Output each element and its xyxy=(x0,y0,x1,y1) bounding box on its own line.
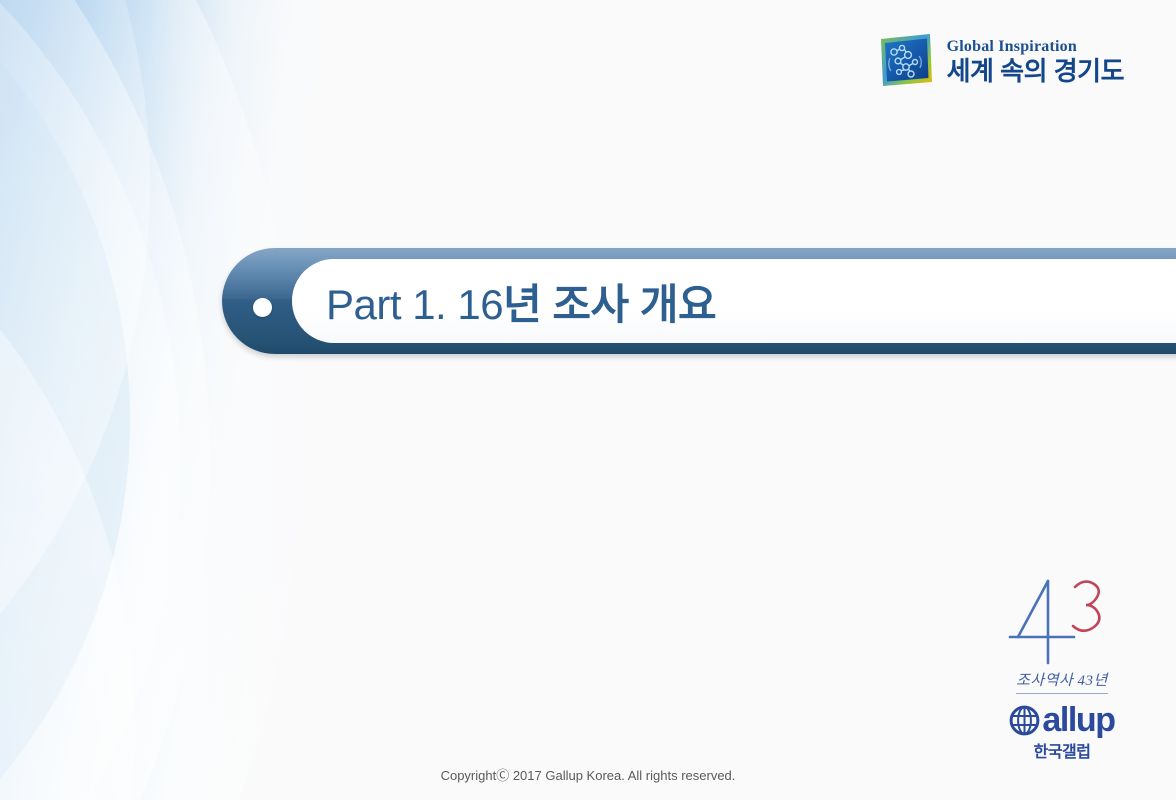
anniversary-script-line: 조사역사 43년 xyxy=(1016,669,1108,694)
gallup-wordmark-text: allup xyxy=(1042,703,1114,737)
background-streak-2 xyxy=(0,110,135,800)
page-title-suffix: 년 조사 개요 xyxy=(503,281,716,328)
gyeonggi-tagline-en: Global Inspiration xyxy=(947,39,1124,55)
anniversary-43-mark xyxy=(1002,575,1122,667)
gyeonggi-emblem-icon xyxy=(875,30,937,92)
title-bar-plate: Part 1. 16년 조사 개요 xyxy=(292,259,1176,343)
gallup-name-kr: 한국갤럽 xyxy=(994,738,1130,762)
background-arc-1 xyxy=(0,0,300,800)
background-arc-2 xyxy=(0,0,210,800)
section-title-bar: Part 1. 16년 조사 개요 xyxy=(222,248,1176,354)
gyeonggi-logo-text: Global Inspiration 세계 속의 경기도 xyxy=(947,39,1124,84)
background-arc-4 xyxy=(0,0,130,800)
gyeonggi-province-logo: Global Inspiration 세계 속의 경기도 xyxy=(875,30,1124,92)
background-streak-1 xyxy=(0,0,150,800)
page-title-prefix: Part 1. 16 xyxy=(326,281,503,328)
presentation-slide: Global Inspiration 세계 속의 경기도 Part 1. 16년… xyxy=(0,0,1176,800)
background-arc-dark xyxy=(0,0,130,620)
footer-copyright: CopyrightⒸ 2017 Gallup Korea. All rights… xyxy=(0,765,1176,784)
gallup-wordmark: allup xyxy=(994,703,1130,737)
page-title: Part 1. 16년 조사 개요 xyxy=(326,271,716,332)
gyeonggi-name-kr: 세계 속의 경기도 xyxy=(947,58,1124,84)
gallup-korea-logo: 조사역사 43년 allup 한국갤럽 xyxy=(994,575,1130,762)
gallup-globe-icon xyxy=(1009,705,1040,736)
background-arc-3 xyxy=(0,0,180,800)
title-bullet-dot-icon xyxy=(253,298,272,317)
